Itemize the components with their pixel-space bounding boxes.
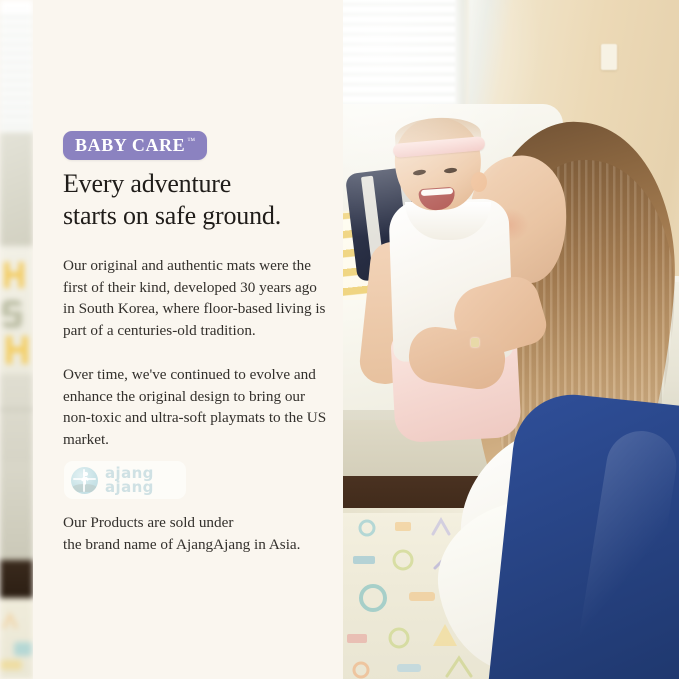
strip-mat-shape-c bbox=[0, 660, 22, 670]
ajangajang-wordmark-line-2: ajang bbox=[105, 480, 154, 494]
closing-statement: Our Products are sold under the brand na… bbox=[63, 512, 331, 555]
baby-ear bbox=[471, 172, 487, 192]
globe-child-figure bbox=[80, 472, 90, 487]
strip-sofa-cushion bbox=[0, 374, 33, 470]
text-panel: BABY CARE ™ Every adventure starts on sa… bbox=[33, 0, 343, 679]
strip-sofa-seat bbox=[0, 462, 33, 572]
figure-head bbox=[83, 472, 88, 477]
wedding-ring bbox=[471, 338, 479, 347]
ajangajang-logo-badge: ajang ajang bbox=[64, 461, 186, 499]
closing-line-2: the brand name of AjangAjang in Asia. bbox=[63, 534, 331, 556]
trademark-icon: ™ bbox=[187, 137, 195, 145]
strip-mat-shape-b bbox=[14, 642, 32, 656]
headline-line-2: starts on safe ground. bbox=[63, 200, 333, 232]
left-photo-strip bbox=[0, 0, 33, 679]
strip-sofa-stitching bbox=[0, 408, 33, 411]
strip-pillow-letter-s bbox=[2, 300, 22, 328]
ajangajang-wordmark: ajang ajang bbox=[105, 466, 154, 495]
product-lifestyle-image: BABY CARE ™ Every adventure starts on sa… bbox=[0, 0, 679, 679]
figure-body bbox=[81, 477, 89, 485]
baby-care-logo-badge: BABY CARE ™ bbox=[63, 131, 207, 160]
baby-care-logo-text: BABY CARE bbox=[75, 136, 185, 154]
light-switch bbox=[601, 44, 617, 70]
lifestyle-photograph bbox=[343, 0, 679, 679]
page-headline: Every adventure starts on safe ground. bbox=[63, 168, 333, 231]
ajangajang-globe-icon bbox=[71, 467, 98, 494]
body-paragraph-1: Our original and authentic mats were the… bbox=[63, 255, 328, 341]
closing-line-1: Our Products are sold under bbox=[63, 512, 331, 534]
strip-floor-shadow bbox=[0, 560, 33, 602]
headline-line-1: Every adventure bbox=[63, 168, 333, 200]
strip-window-blinds bbox=[0, 10, 33, 145]
body-paragraph-2: Over time, we've continued to evolve and… bbox=[63, 364, 328, 450]
